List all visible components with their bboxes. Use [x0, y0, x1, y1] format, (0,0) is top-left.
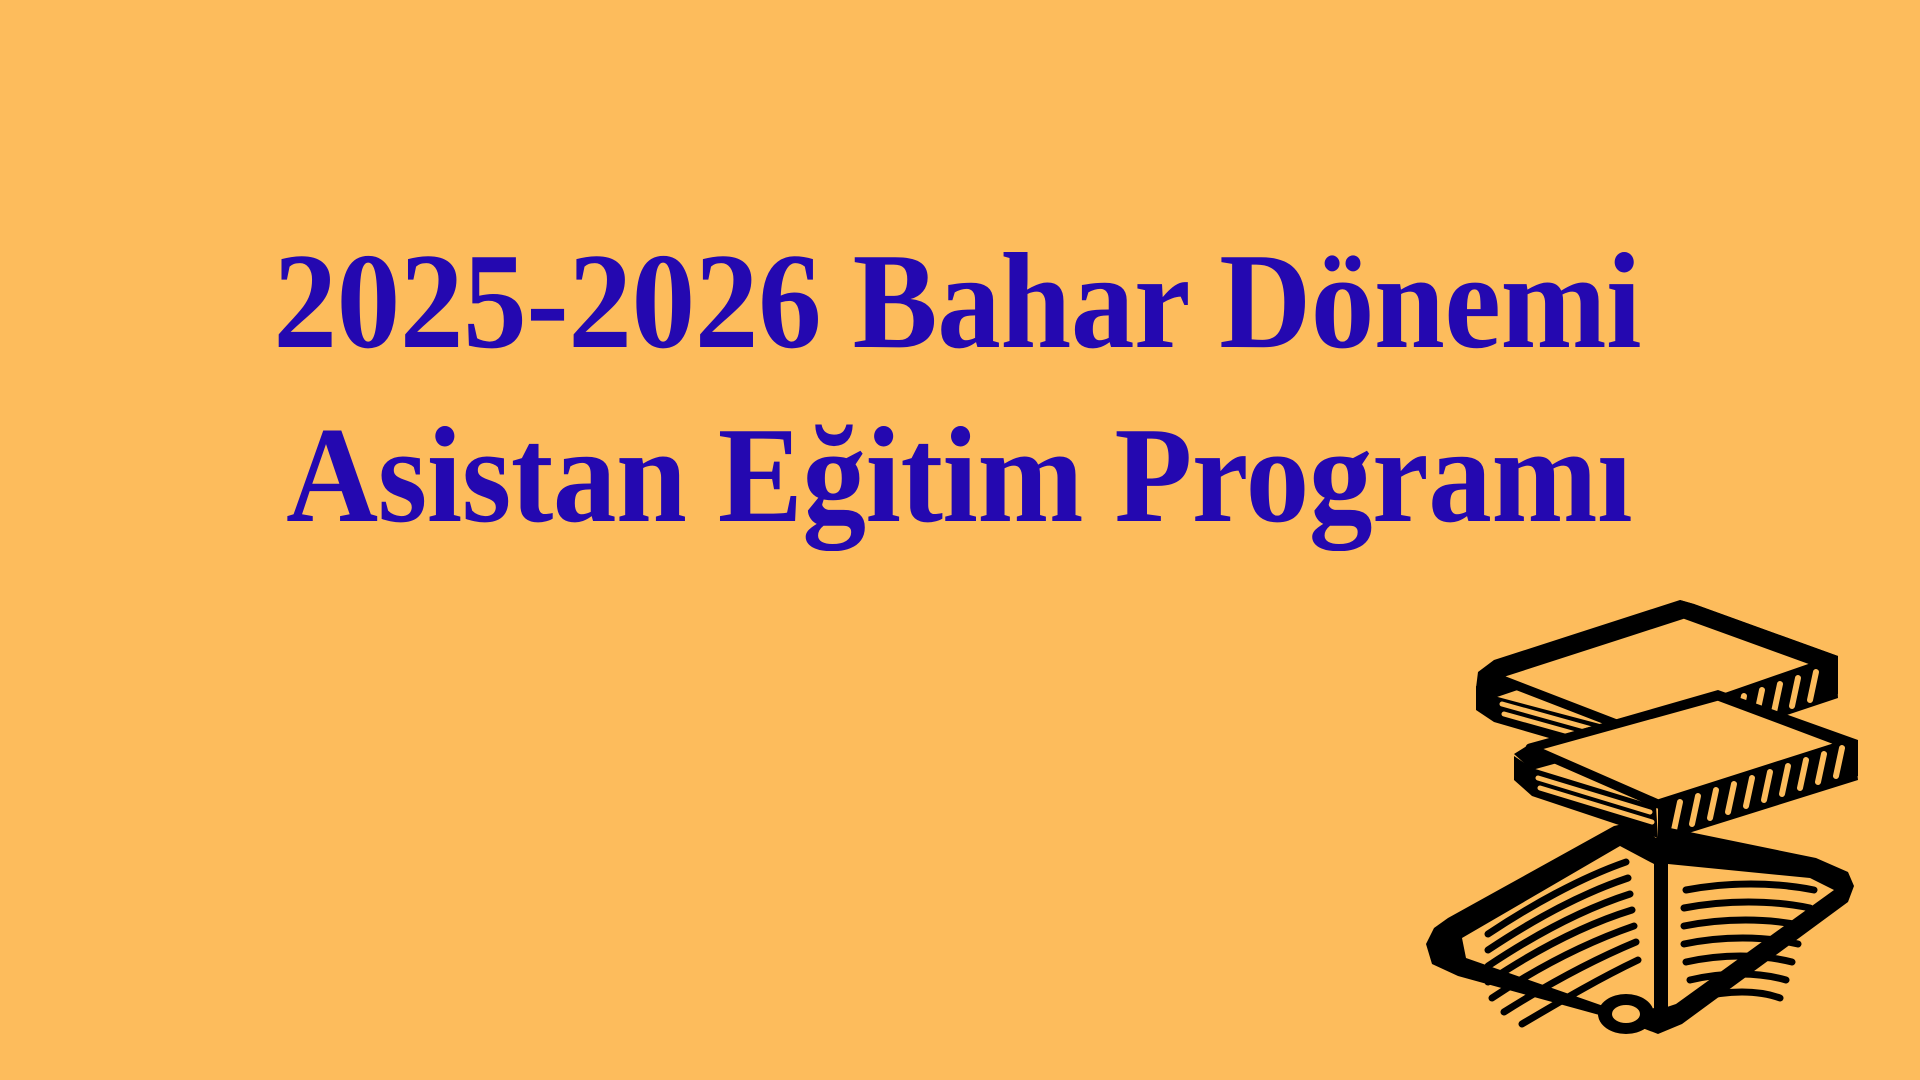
page-title: 2025-2026 Bahar Dönemi Asistan Eğitim Pr… — [0, 215, 1920, 563]
title-line-1: 2025-2026 Bahar Dönemi — [67, 215, 1853, 389]
closed-book-middle-icon — [1514, 690, 1858, 842]
open-book-bottom-icon — [1426, 822, 1854, 1034]
title-line-2: Asistan Eğitim Programı — [67, 389, 1853, 563]
poster-canvas: 2025-2026 Bahar Dönemi Asistan Eğitim Pr… — [0, 0, 1920, 1080]
books-illustration — [1418, 572, 1898, 1072]
